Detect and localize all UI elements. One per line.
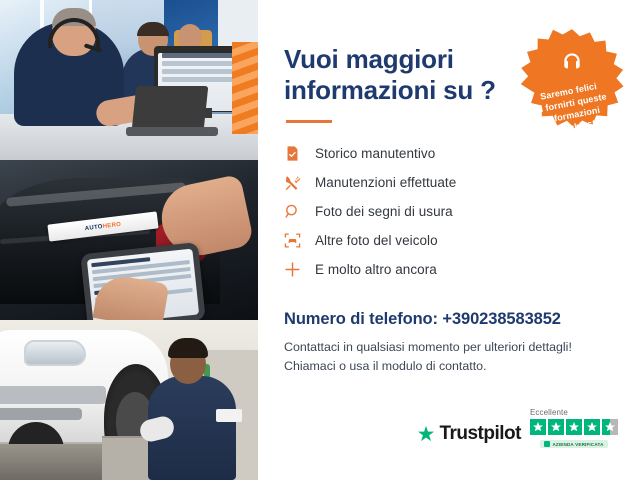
page-title: Vuoi maggiori informazioni su ? xyxy=(284,44,524,105)
vehicle-inspection-photo: AUTOHERO xyxy=(0,160,258,320)
trustpilot-logo: ★ Trustpilot xyxy=(417,423,521,448)
feature-item-altre-foto-veicolo: Altre foto del veicolo xyxy=(284,226,614,255)
contact-copy: Contattaci in qualsiasi momento per ulte… xyxy=(284,338,614,376)
crossed-tools-icon xyxy=(284,174,301,191)
workshop-photo xyxy=(0,320,258,480)
car-lower-grille xyxy=(0,408,82,420)
feature-label: Foto dei segni di usura xyxy=(315,204,453,219)
content-area: Vuoi maggiori informazioni su ? Storico … xyxy=(258,0,640,480)
feature-item-storico-manutentivo: Storico manutentivo xyxy=(284,139,614,168)
laptop-screen xyxy=(132,86,209,130)
star-half xyxy=(602,419,618,435)
feature-item-molto-altro: E molto altro ancora xyxy=(284,255,614,284)
feature-label: E molto altro ancora xyxy=(315,262,437,277)
feature-item-foto-segni-usura: Foto dei segni di usura xyxy=(284,197,614,226)
call-center-photo xyxy=(0,0,258,160)
callout-badge: Saremo felici di fornirti queste informa… xyxy=(518,28,626,136)
verified-label: AZIENDA VERIFICATA xyxy=(552,442,603,447)
headline-line-1: Vuoi maggiori xyxy=(284,44,454,74)
feature-item-manutenzioni-effettuate: Manutenzioni effettuate xyxy=(284,168,614,197)
trustpilot-brand-name: Trustpilot xyxy=(439,423,521,445)
headset-icon xyxy=(561,51,583,73)
feature-label: Manutenzioni effettuate xyxy=(315,175,456,190)
star-filled xyxy=(548,419,564,435)
star-filled xyxy=(584,419,600,435)
trustpilot-rating-label: Eccellente xyxy=(530,408,568,417)
orange-display-stand xyxy=(232,42,258,134)
technician-hair xyxy=(168,338,208,358)
magnifier-icon xyxy=(284,203,301,220)
checklist-document-icon xyxy=(284,145,301,162)
feature-list: Storico manutentivo Manutenzioni effettu… xyxy=(284,139,614,284)
title-divider xyxy=(286,120,332,123)
feature-label: Storico manutentivo xyxy=(315,146,435,161)
ruler-brand: AUTOHERO xyxy=(84,221,121,231)
promo-panel: AUTOHERO xyxy=(0,0,640,480)
contact-copy-line-2: Chiamaci o usa il modulo di contatto. xyxy=(284,359,487,373)
contact-copy-line-1: Contattaci in qualsiasi momento per ulte… xyxy=(284,340,572,354)
photo-strip: AUTOHERO xyxy=(0,0,258,480)
trustpilot-stars xyxy=(530,419,618,435)
trustpilot-score-block: Eccellente AZIENDA VERIFICATA xyxy=(530,408,618,448)
laptop-keyboard xyxy=(126,127,218,136)
trustpilot-rating[interactable]: ★ Trustpilot Eccellente AZIENDA VERIFICA… xyxy=(417,408,618,448)
verified-business-badge: AZIENDA VERIFICATA xyxy=(540,440,607,448)
car-scan-icon xyxy=(284,232,301,249)
feature-label: Altre foto del veicolo xyxy=(315,233,438,248)
star-filled xyxy=(530,419,546,435)
trustpilot-star-icon: ★ xyxy=(417,424,436,445)
car-headlight xyxy=(24,340,86,366)
plus-icon xyxy=(284,261,301,278)
car-grille xyxy=(0,386,106,404)
technician-badge xyxy=(216,409,242,422)
star-filled xyxy=(566,419,582,435)
headline-line-2: informazioni su ? xyxy=(284,75,496,105)
verified-check-icon xyxy=(544,441,550,447)
phone-number[interactable]: Numero di telefono: +390238583852 xyxy=(284,310,614,329)
